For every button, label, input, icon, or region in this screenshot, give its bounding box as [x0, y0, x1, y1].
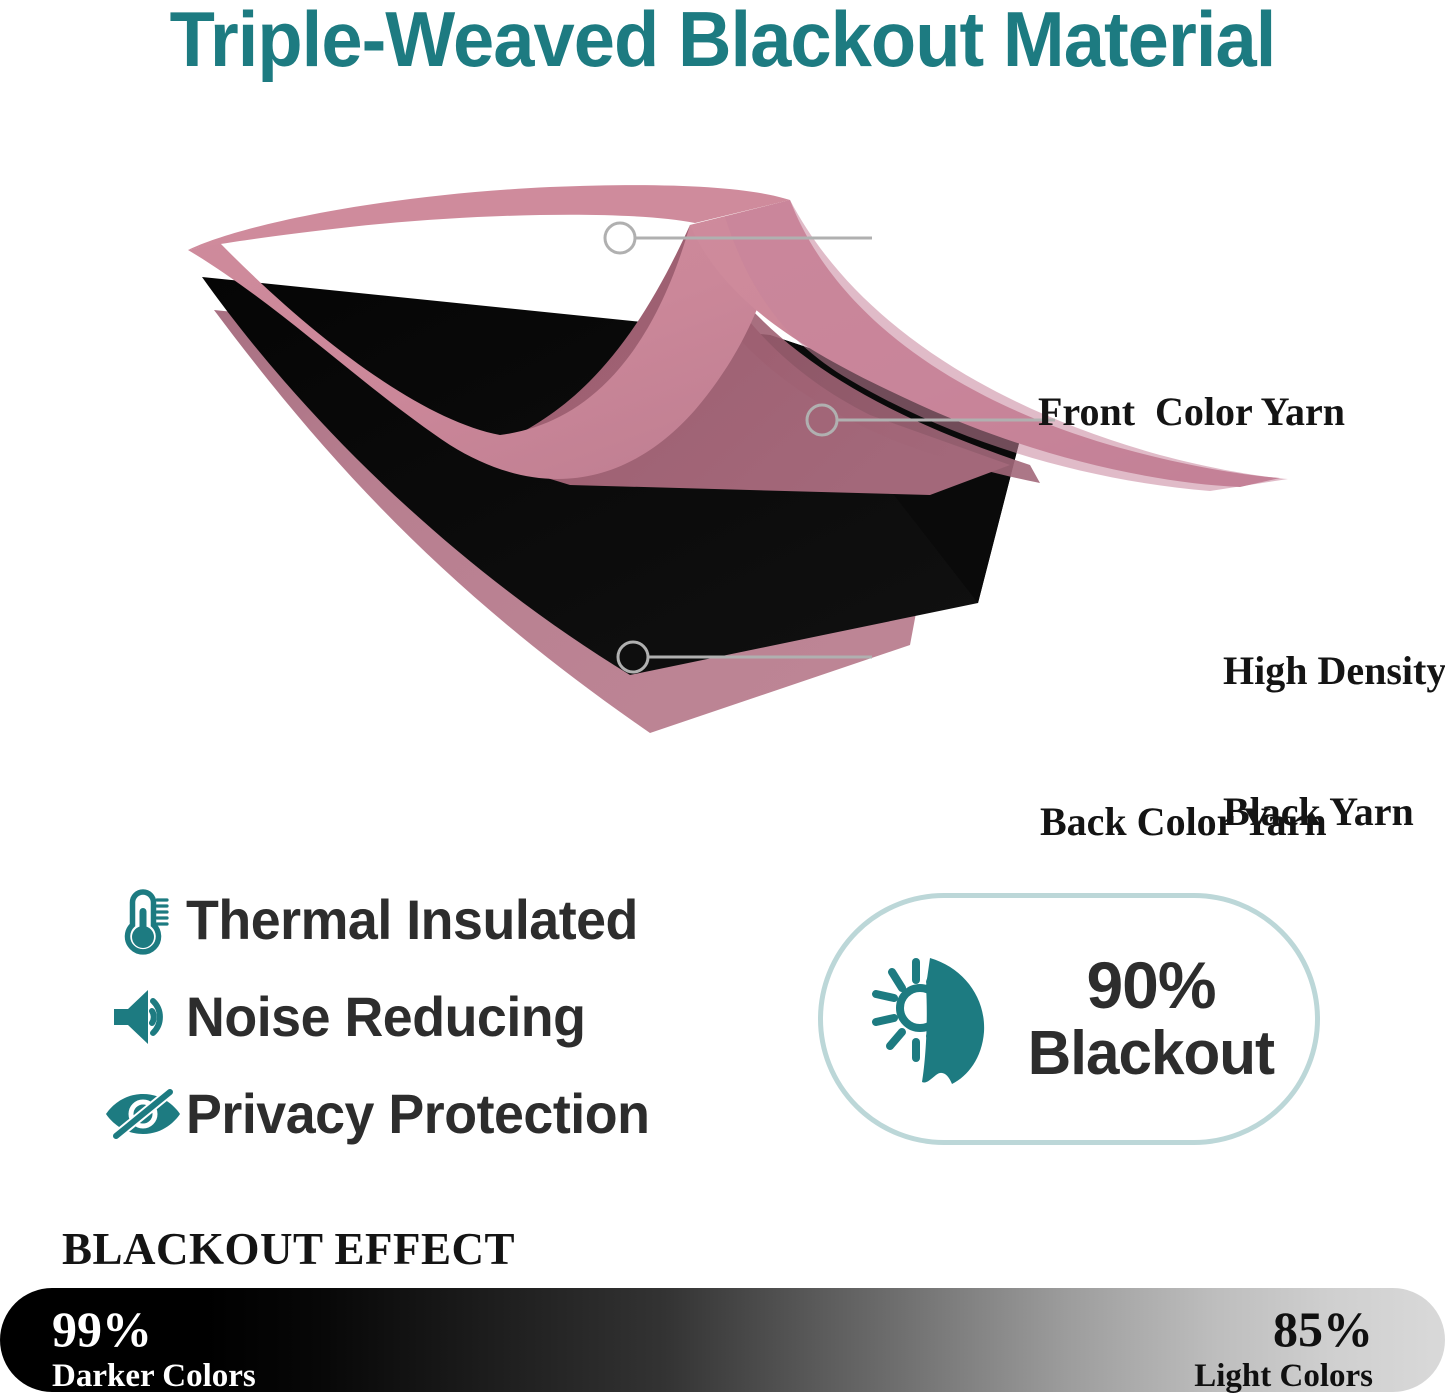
page-title: Triple-Weaved Blackout Material [36, 0, 1409, 82]
feature-label-thermal-insulated: Thermal Insulated [186, 890, 638, 950]
darker-colors-percent: 99% [52, 1302, 256, 1357]
feature-label-privacy-protection: Privacy Protection [186, 1084, 649, 1144]
eye-slash-icon [100, 1086, 186, 1142]
callout-label-front-color-yarn: Front Color Yarn [1038, 388, 1345, 435]
sun-blocked-by-curtain-icon [860, 946, 1010, 1092]
blackout-effect-light-colors: 85% Light Colors [1194, 1302, 1373, 1395]
light-colors-label: Light Colors [1194, 1357, 1373, 1395]
callout-label-back-color-yarn: Back Color Yarn [1040, 798, 1327, 845]
speaker-wave-icon [100, 986, 186, 1048]
blackout-effect-heading: BLACKOUT EFFECT [62, 1224, 515, 1274]
feature-label-noise-reducing: Noise Reducing [186, 987, 586, 1047]
light-colors-percent: 85% [1194, 1302, 1373, 1357]
callout-label-black-yarn-line1: High Density [1223, 647, 1445, 694]
blackout-badge: 90% Blackout [818, 893, 1320, 1145]
feature-item-privacy-protection: Privacy Protection [100, 1069, 740, 1159]
feature-list: Thermal Insulated Noise Reducing Privacy… [100, 875, 740, 1166]
circle-marker-icon [605, 223, 635, 253]
blackout-word: Blackout [1028, 1020, 1274, 1088]
thermometer-icon [100, 883, 186, 957]
darker-colors-label: Darker Colors [52, 1357, 256, 1395]
feature-item-thermal-insulated: Thermal Insulated [100, 875, 740, 965]
blackout-percent: 90% [1024, 950, 1278, 1020]
fabric-layers-diagram: Front Color Yarn High Density Black Yarn… [150, 165, 1330, 765]
blackout-badge-text: 90% Blackout [1024, 950, 1278, 1088]
feature-item-noise-reducing: Noise Reducing [100, 972, 740, 1062]
callout-label-black-yarn: High Density Black Yarn [1223, 553, 1445, 929]
blackout-effect-gradient-bar: 99% Darker Colors 85% Light Colors [0, 1288, 1445, 1392]
blackout-effect-darker-colors: 99% Darker Colors [52, 1302, 256, 1395]
